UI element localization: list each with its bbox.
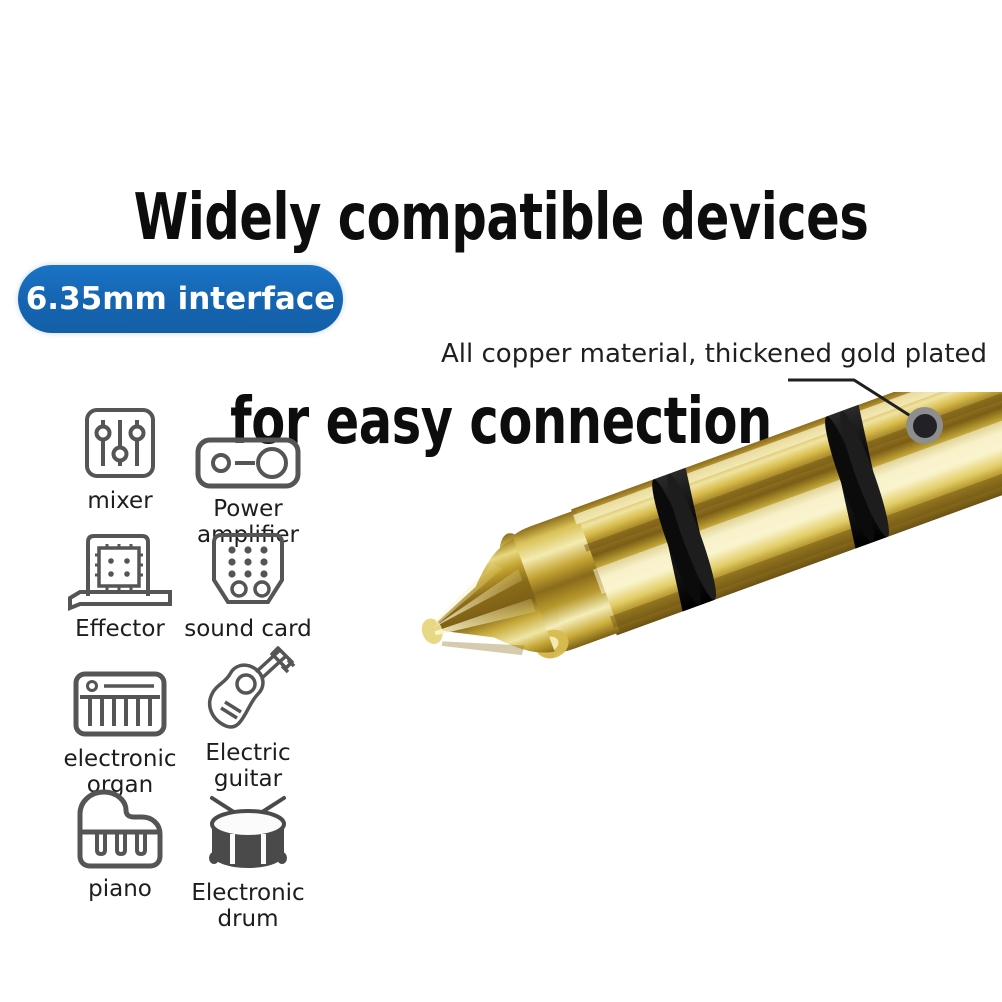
device-label-sound-card: sound card <box>168 616 328 642</box>
device-item-electric-guitar[interactable]: Electric guitar <box>168 650 328 792</box>
device-label-electric-guitar: Electric guitar <box>168 740 328 792</box>
device-item-electronic-drum[interactable]: Electronic drum <box>168 790 328 932</box>
page-title-line1: Widely compatible devices <box>70 184 932 252</box>
compatible-devices-grid: mixer Power amplifier <box>40 398 370 910</box>
interface-badge-label: 6.35mm interface <box>18 265 343 333</box>
device-label-electronic-drum: Electronic drum <box>168 880 328 932</box>
power-amplifier-icon <box>168 406 328 492</box>
interface-badge: 6.35mm interface <box>18 265 343 333</box>
device-item-sound-card[interactable]: sound card <box>168 526 328 642</box>
annotation-marker-dot <box>913 414 937 438</box>
image-canvas: Widely compatible devices for easy conne… <box>0 0 1002 1002</box>
electronic-drum-icon <box>168 790 328 876</box>
electric-guitar-icon <box>168 650 328 736</box>
sound-card-icon <box>168 526 328 612</box>
